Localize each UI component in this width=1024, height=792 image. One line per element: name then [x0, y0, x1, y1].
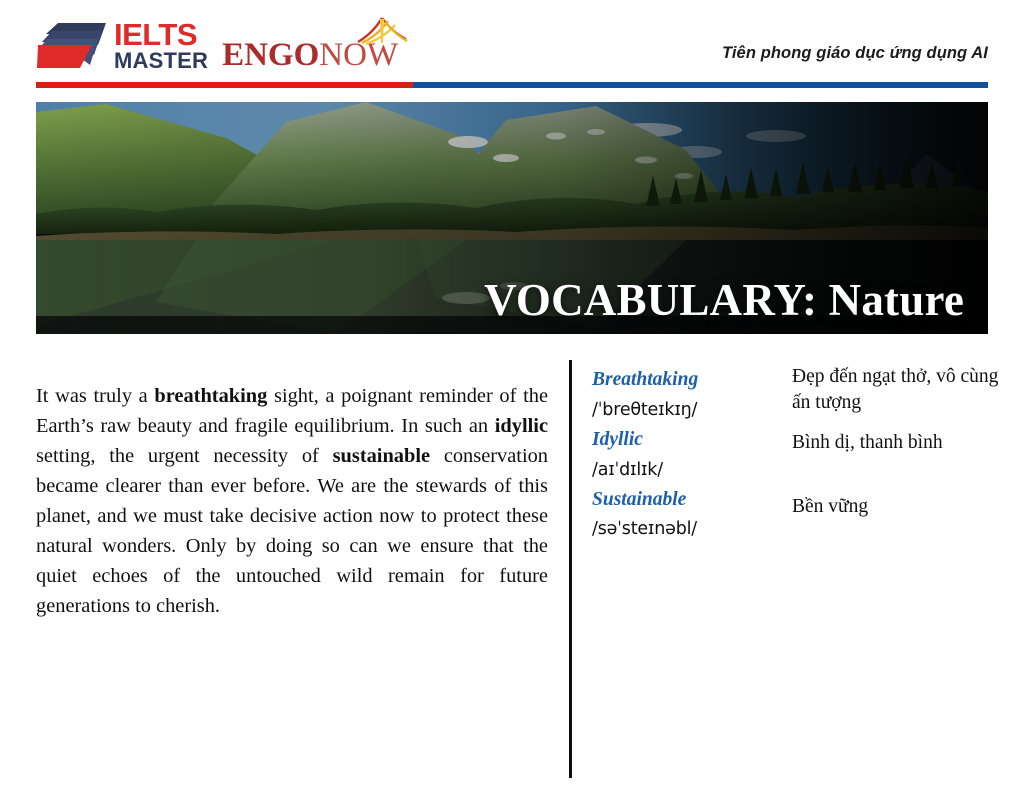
- vocabulary-ipa: /səˈsteɪnəbl/: [592, 515, 782, 543]
- vocabulary-ipa: /aɪˈdɪlɪk/: [592, 456, 782, 484]
- passage-text: setting, the urgent necessity of: [36, 445, 333, 467]
- content-area: It was truly a breathtaking sight, a poi…: [0, 350, 1024, 780]
- logo-master-text: MASTER: [114, 50, 208, 72]
- hero-image: VOCABULARY: Nature: [36, 102, 988, 334]
- translation-item: Bền vững: [792, 494, 1004, 520]
- header-divider-bar: [36, 82, 988, 88]
- vocabulary-word: Breathtaking: [592, 364, 782, 396]
- vocabulary-ipa: /ˈbreθteɪkɪŋ/: [592, 396, 782, 424]
- vocabulary-word: Idyllic: [592, 424, 782, 456]
- keyword: breathtaking: [154, 385, 267, 407]
- page-header: IELTS MASTER ENGONOW Tiên phong giáo dục…: [0, 0, 1024, 92]
- passage-text: conservation became clearer than ever be…: [36, 445, 548, 616]
- stacked-books-icon: [36, 21, 110, 71]
- keyword: sustainable: [333, 445, 430, 467]
- engonow-logo: ENGONOW: [222, 20, 398, 72]
- vocabulary-entry: Sustainable /səˈsteɪnəbl/: [592, 484, 782, 544]
- translation-item: Bình dị, thanh bình: [792, 430, 1004, 456]
- open-book-flourish-icon: [354, 16, 408, 46]
- ielts-master-logo: IELTS MASTER: [36, 17, 208, 75]
- column-divider: [569, 360, 572, 778]
- vocabulary-word: Sustainable: [592, 484, 782, 516]
- keyword: idyllic: [495, 415, 548, 437]
- hero-title: VOCABULARY: Nature: [484, 274, 964, 326]
- logo-ielts-text: IELTS: [114, 20, 208, 50]
- divider-blue-segment: [413, 82, 988, 88]
- translation-item: Đẹp đến ngạt thở, vô cùng ấn tượng: [792, 364, 1004, 416]
- passage-text: It was truly a: [36, 385, 154, 407]
- logo-group: IELTS MASTER ENGONOW: [36, 16, 398, 76]
- vocabulary-column: Breathtaking /ˈbreθteɪkɪŋ/ Idyllic /aɪˈd…: [592, 364, 782, 544]
- translation-column: Đẹp đến ngạt thở, vô cùng ấn tượng Bình …: [792, 364, 1004, 520]
- vocabulary-entry: Idyllic /aɪˈdɪlɪk/: [592, 424, 782, 484]
- vocabulary-entry: Breathtaking /ˈbreθteɪkɪŋ/: [592, 364, 782, 424]
- logo-engo-text: ENGO: [222, 39, 319, 72]
- ielts-master-wordmark: IELTS MASTER: [114, 20, 208, 72]
- tagline: Tiên phong giáo dục ứng dụng AI: [722, 44, 988, 63]
- divider-red-segment: [36, 82, 413, 88]
- reading-passage: It was truly a breathtaking sight, a poi…: [36, 382, 548, 621]
